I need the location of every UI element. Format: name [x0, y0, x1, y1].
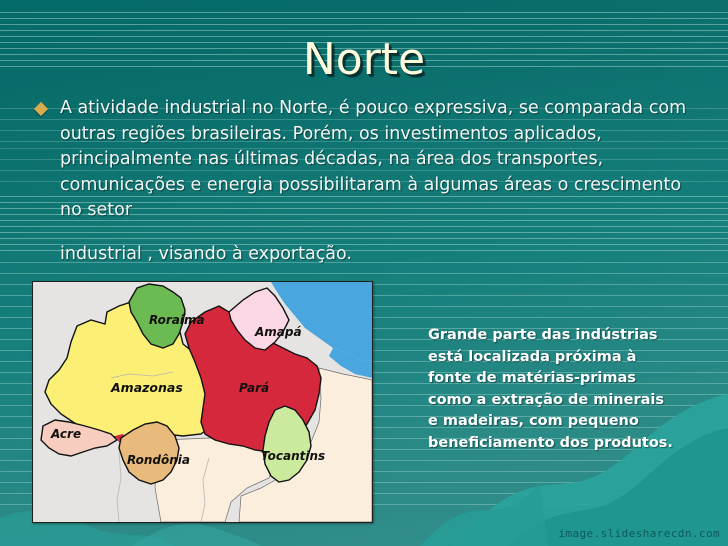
map-label-rondonia: Rondônia — [127, 453, 190, 467]
map-of-northern-brazil: Roraima Amapá Pará Amazonas Acre Rondôni… — [32, 281, 373, 523]
diamond-bullet-icon — [34, 102, 48, 116]
map-label-tocantins: Tocantins — [261, 449, 325, 463]
map-label-amapa: Amapá — [254, 325, 302, 339]
bullet-paragraph-main: A atividade industrial no Norte, é pouco… — [60, 98, 686, 220]
map-label-amazonas: Amazonas — [110, 380, 183, 395]
watermark-text: image.slidesharecdn.com — [558, 527, 720, 540]
bullet-text-wrapper: A atividade industrial no Norte, é pouco… — [60, 96, 700, 267]
map-label-roraima: Roraima — [149, 313, 205, 327]
map-svg: Roraima Amapá Pará Amazonas Acre Rondôni… — [33, 282, 372, 522]
bullet-paragraph-tail: industrial , visando à exportação. — [60, 242, 700, 268]
body-content: A atividade industrial no Norte, é pouco… — [36, 96, 700, 267]
side-note-text: Grande parte das indústrias está localiz… — [428, 325, 678, 454]
map-label-acre: Acre — [50, 427, 81, 441]
map-label-para: Pará — [239, 381, 269, 395]
bullet-item: A atividade industrial no Norte, é pouco… — [36, 96, 700, 267]
slide-canvas: Norte A atividade industrial no Norte, é… — [0, 0, 728, 546]
slide-title: Norte — [0, 34, 728, 86]
